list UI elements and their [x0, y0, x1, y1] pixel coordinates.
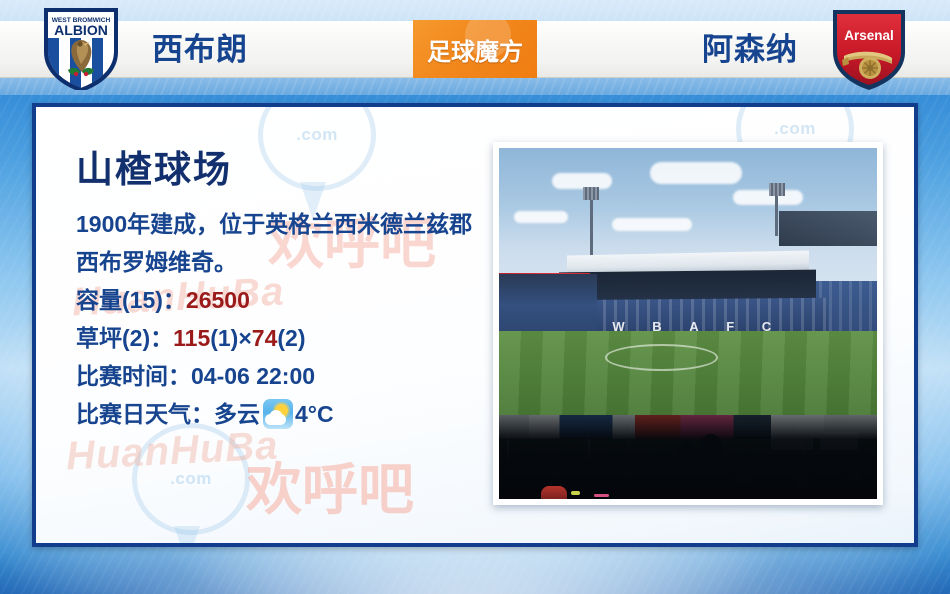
spectator-head: [699, 434, 723, 464]
west-bromwich-albion-crest[interactable]: WEST BROMWICH ALBION: [42, 8, 120, 90]
pitch-length-value: 115: [173, 325, 210, 351]
spectator-head: [548, 452, 568, 478]
home-team-name: 西布朗: [152, 28, 248, 72]
weather-value: 多云: [214, 395, 260, 433]
partly-cloudy-icon: [263, 399, 293, 429]
capacity-label: 容量(15)：: [76, 287, 186, 313]
pitch-size-line: 草坪(2)：115(1)×74(2): [76, 319, 506, 357]
pitch-length-rank: (1): [210, 325, 238, 351]
watermark-bubble-tail: [174, 526, 200, 543]
floodlight-head: [769, 183, 785, 196]
match-time-value: 04-06 22:00: [191, 363, 315, 389]
stadium-info-card: .com .com .com .com HuanHuBa HuanHuBa Hu…: [32, 103, 918, 547]
pitch-width-rank: (2): [277, 325, 305, 351]
stadium-title: 山楂球场: [76, 139, 506, 193]
stadium-info-column: 山楂球场 1900年建成，位于英格兰西米德兰兹郡西布罗姆维奇。 容量(15)：2…: [76, 139, 506, 433]
away-team-name: 阿森纳: [702, 28, 798, 72]
cloud-shape: [552, 173, 612, 189]
spectator-head: [677, 441, 697, 467]
spectator-head: [597, 452, 617, 478]
floodlight-head: [583, 187, 599, 200]
match-info-page: WEST BROMWICH ALBION 西布朗 足球魔方 阿森纳: [0, 0, 950, 594]
spectator-head: [843, 455, 863, 481]
cloud-shape: [612, 218, 692, 231]
stadium-photo-frame[interactable]: W B A F C: [493, 142, 883, 505]
pitch-center-circle: [605, 344, 718, 371]
watermark-dotcom-text: .com: [774, 119, 816, 139]
spectator-pink-item: [594, 494, 609, 497]
watermark-cn-bottom: 欢呼吧: [246, 445, 414, 526]
away-crest-text: Arsenal: [844, 28, 894, 43]
match-weather-line: 比赛日天气：多云 4°C: [76, 395, 506, 433]
weather-label: 比赛日天气：: [76, 395, 214, 433]
match-time-label: 比赛时间：: [76, 363, 191, 389]
pitch-width-value: 74: [252, 325, 278, 351]
pitch-label: 草坪(2)：: [76, 325, 173, 351]
watermark-dotcom-text: .com: [170, 469, 212, 489]
watermark-bubble-bottom-left: .com: [132, 423, 250, 535]
pitch-times-sign: ×: [238, 325, 251, 351]
spectator-head: [616, 452, 636, 478]
floodlight-pylon: [590, 190, 593, 260]
spectator-red-shirt: [541, 486, 567, 499]
brand-logo-text: 足球魔方: [413, 20, 537, 78]
match-header: WEST BROMWICH ALBION 西布朗 足球魔方 阿森纳: [0, 0, 950, 95]
spectator-yellow-item: [571, 491, 580, 495]
home-crest-main-text: ALBION: [54, 22, 108, 38]
card-inner: .com .com .com .com HuanHuBa HuanHuBa Hu…: [36, 107, 914, 543]
cloud-shape: [650, 162, 742, 184]
brand-logo[interactable]: 足球魔方: [413, 20, 537, 78]
cloud-shape: [514, 211, 568, 223]
capacity-value: 26500: [186, 287, 250, 313]
spectator-head: [794, 468, 810, 488]
capacity-line: 容量(15)：26500: [76, 281, 506, 319]
spectator-head: [654, 452, 674, 478]
match-time-line: 比赛时间：04-06 22:00: [76, 357, 506, 395]
arsenal-crest[interactable]: Arsenal: [830, 8, 908, 90]
spectator-head: [733, 459, 753, 485]
temperature-value: 4°C: [295, 395, 334, 433]
cloud-base-shape: [265, 414, 286, 425]
stadium-description: 1900年建成，位于英格兰西米德兰兹郡西布罗姆维奇。: [76, 205, 491, 281]
stadium-photo: W B A F C: [499, 148, 877, 499]
